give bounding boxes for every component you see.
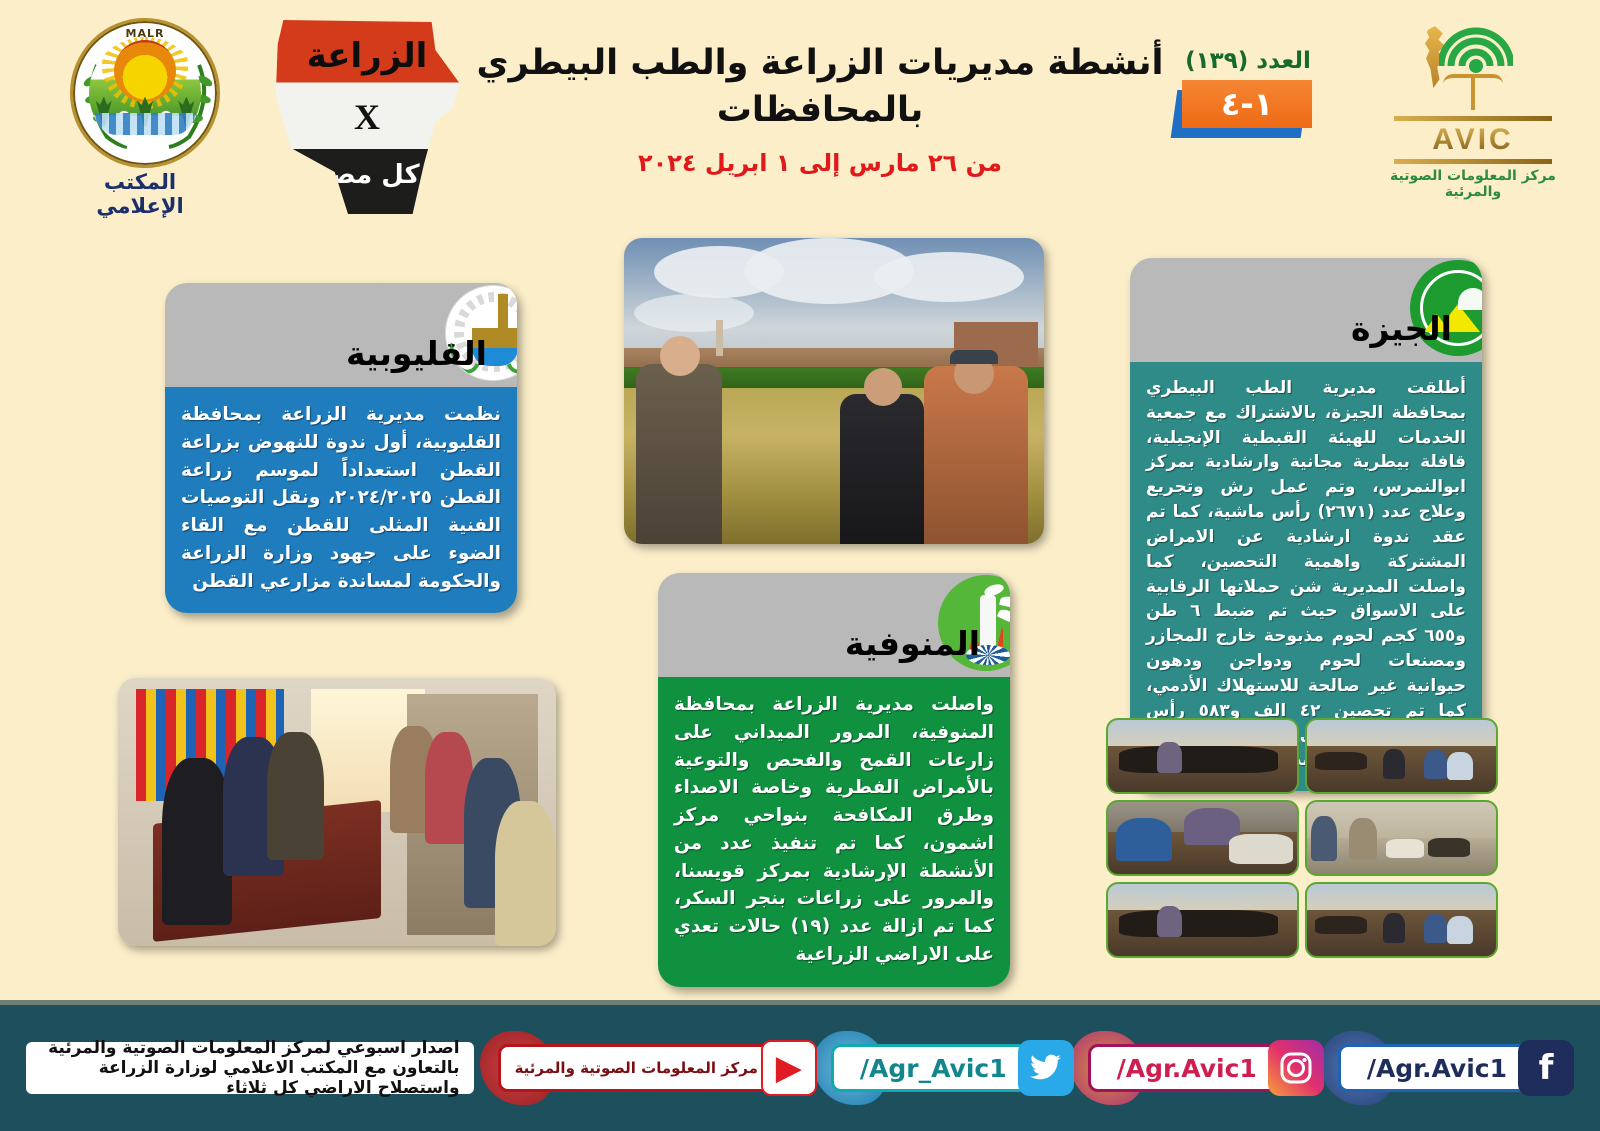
footer-note: اصدار اسبوعي لمركز المعلومات الصوتية وال… [26, 1042, 474, 1094]
avic-bar-top [1394, 116, 1552, 121]
gov-card-header: القليوبية [165, 283, 517, 387]
footer-bar: f /Agr.Avic1 /Agr.Avic1 /Agr_Avic1 ▶ مرك… [0, 1000, 1600, 1131]
egypt-map-shape: الزراعة X كل مصر [272, 16, 462, 216]
cloud-shape [634, 294, 754, 332]
person-figure [495, 801, 556, 946]
cap-icon [950, 350, 998, 364]
youtube-handle[interactable]: مركز المعلومات الصوتية والمرئية [498, 1044, 771, 1092]
avic-base [1443, 74, 1503, 84]
avic-mark [1413, 22, 1533, 114]
person-figure [162, 758, 232, 924]
egypt-flag-map: الزراعة X كل مصر [272, 16, 462, 216]
header-title-block: أنشطة مديريات الزراعة والطب البيطري بالم… [470, 40, 1170, 177]
water-icon [95, 113, 195, 135]
grid-cell [1106, 800, 1299, 876]
facebook-handle[interactable]: /Agr.Avic1 [1338, 1044, 1528, 1092]
person-figure [267, 732, 324, 861]
gov-card-giza: الجيزة أطلقت مديرية الطب البيطري بمحافظة… [1130, 258, 1482, 791]
issue-pages-badge: ١-٤ [1182, 80, 1312, 134]
photo-meeting-room [118, 678, 556, 946]
grid-cell [1106, 718, 1299, 794]
malr-logo: MALR [60, 18, 220, 178]
photo-wheat-field [624, 238, 1044, 544]
newsletter-page: MALR [0, 0, 1600, 1131]
avic-logo: AVIC مركز المعلومات الصوتية والمرئية [1378, 22, 1568, 200]
date-range: من ٢٦ مارس إلى ١ ابريل ٢٠٢٤ [470, 149, 1170, 177]
cloud-shape [874, 252, 1024, 302]
gov-card-header: الجيزة [1130, 258, 1482, 362]
avic-bar-bottom [1394, 159, 1552, 164]
gov-card-menoufia: المنوفية واصلت مديرية الزراعة بمحافظة ال… [658, 573, 1010, 987]
minaret-shape [716, 320, 723, 356]
gov-name-menoufia: المنوفية [845, 624, 980, 663]
malr-seal: MALR [70, 18, 220, 168]
person-head [864, 368, 902, 406]
grid-cell [1305, 882, 1498, 958]
twitter-handle[interactable]: /Agr_Avic1 [831, 1044, 1028, 1092]
gov-card-qalyubia: القليوبية نظمت مديرية الزراعة بمحافظة ال… [165, 283, 517, 613]
instagram-icon[interactable] [1268, 1040, 1324, 1096]
malr-caption: المكتب الإعلامي [60, 170, 220, 218]
social-twitter[interactable]: /Agr_Avic1 [831, 1039, 1074, 1097]
facebook-icon[interactable]: f [1518, 1040, 1574, 1096]
page-title: أنشطة مديريات الزراعة والطب البيطري بالم… [470, 40, 1170, 135]
avic-wordmark: AVIC [1378, 123, 1568, 157]
flag-text-agriculture: الزراعة [272, 36, 462, 76]
youtube-icon[interactable]: ▶ [761, 1040, 817, 1096]
instagram-handle[interactable]: /Agr.Avic1 [1088, 1044, 1278, 1092]
gov-body-menoufia: واصلت مديرية الزراعة بمحافظة المنوفية، ا… [658, 677, 1010, 987]
grid-cell [1305, 718, 1498, 794]
issue-pages-label: ١-٤ [1182, 80, 1312, 128]
gov-name-giza: الجيزة [1351, 309, 1452, 348]
social-instagram[interactable]: /Agr.Avic1 [1088, 1039, 1324, 1097]
avic-subtitle: مركز المعلومات الصوتية والمرئية [1378, 168, 1568, 200]
grid-cell [1305, 800, 1498, 876]
issue-block: العدد (١٣٩) ١-٤ [1178, 48, 1318, 134]
person-figure [840, 394, 924, 544]
gov-card-header: المنوفية [658, 573, 1010, 677]
gov-body-qalyubia: نظمت مديرية الزراعة بمحافظة القليوبية، أ… [165, 387, 517, 613]
gov-name-qalyubia: القليوبية [346, 334, 487, 373]
social-facebook[interactable]: f /Agr.Avic1 [1338, 1039, 1574, 1097]
twitter-icon[interactable] [1018, 1040, 1074, 1096]
issue-number-label: العدد (١٣٩) [1178, 48, 1318, 74]
flag-text-x: X [272, 96, 462, 138]
person-head [660, 336, 700, 376]
flag-text-all-egypt: كل مصر [272, 160, 462, 190]
photo-grid-vet-caravan [1106, 718, 1498, 958]
person-figure [636, 364, 722, 544]
malr-emblem-inner [89, 37, 201, 149]
grid-cell [1106, 882, 1299, 958]
social-youtube[interactable]: ▶ مركز المعلومات الصوتية والمرئية [498, 1039, 817, 1097]
